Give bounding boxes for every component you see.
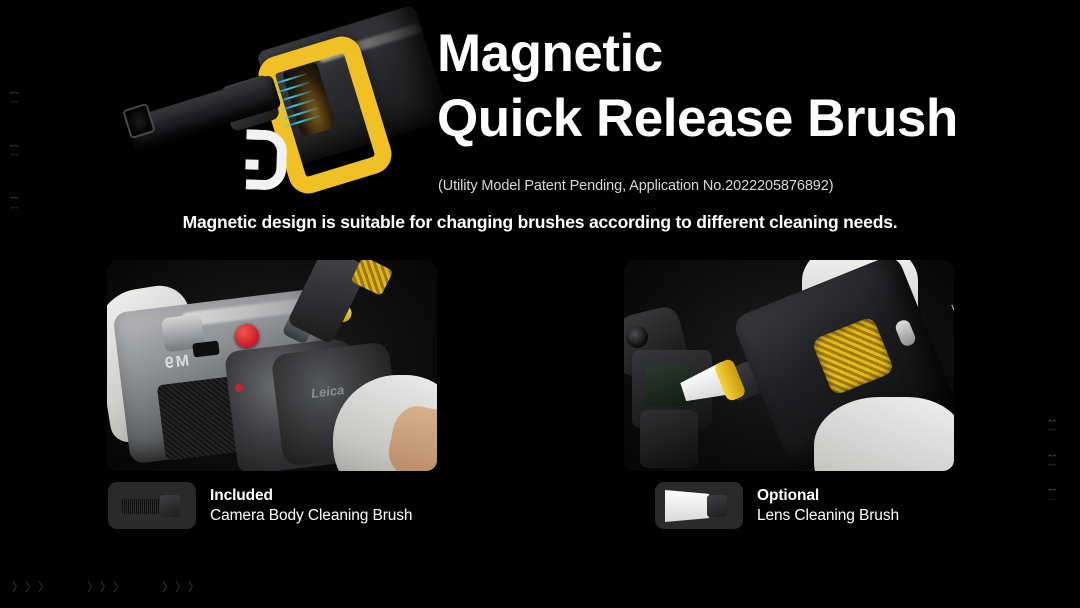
subtitle: Magnetic design is suitable for changing… — [0, 212, 1080, 233]
chevron-group: ˆˆ ˆˆ — [1048, 420, 1057, 439]
chevron-group: ˇˇ ˇˇ — [10, 92, 19, 111]
brush-ferrule — [707, 495, 727, 517]
photo-lens-cleaning: NITECORE — [624, 260, 954, 471]
decoration-chevrons-left: ˇˇ ˇˇ ˇˇ ˇˇ ˇˇ ˇˇ — [10, 92, 19, 216]
page-title: Magnetic Quick Release Brush — [437, 22, 1037, 151]
leica-red-dot — [235, 324, 259, 348]
chevron-group: ˇˇ ˇˇ — [10, 145, 19, 164]
chevron-group: ˆˆ ˆˆ — [1048, 489, 1057, 508]
chevron-down-icon: ˇˇ — [10, 154, 19, 163]
chevron-down-icon: ˇˇ — [10, 101, 19, 110]
headline-line-1: Magnetic — [437, 22, 1037, 87]
chevron-right-icon: 〉〉〉 — [12, 578, 51, 595]
chevron-up-icon: ˆˆ — [1048, 499, 1057, 508]
camera-model-label: M9 — [162, 352, 190, 373]
gimbal-lens — [626, 326, 648, 348]
caption-subtitle: Lens Cleaning Brush — [757, 506, 899, 526]
decoration-chevrons-bottom: 〉〉〉 〉〉〉 〉〉〉 — [12, 578, 201, 595]
photo-camera-body: M9 Leica — [107, 260, 437, 471]
product-banner: ˇˇ ˇˇ ˇˇ ˇˇ ˇˇ ˇˇ ˆˆ ˆˆ ˆˆ ˆˆ ˆˆ ˆˆ 〉〉〉 … — [0, 0, 1080, 608]
caption-subtitle: Camera Body Cleaning Brush — [210, 506, 412, 526]
chevron-right-icon: 〉〉〉 — [162, 578, 201, 595]
brush-ferrule — [160, 495, 180, 517]
caption-optional: Optional Lens Cleaning Brush — [655, 482, 899, 529]
camera-body-brush-thumbnail — [108, 482, 196, 529]
chevron-up-icon: ˆˆ — [1048, 429, 1057, 438]
decoration-chevrons-right: ˆˆ ˆˆ ˆˆ ˆˆ ˆˆ ˆˆ — [1048, 420, 1057, 508]
caption-included: Included Camera Body Cleaning Brush — [108, 482, 412, 529]
camera-mount — [640, 410, 698, 468]
caption-title: Included — [210, 486, 412, 506]
chevron-right-icon: 〉〉〉 — [87, 578, 126, 595]
patent-note: (Utility Model Patent Pending, Applicati… — [438, 178, 833, 194]
magnet-icon — [242, 126, 288, 174]
hero-product-image — [120, 18, 425, 213]
chevron-up-icon: ˆˆ — [1048, 464, 1057, 473]
lens-brush-thumbnail — [655, 482, 743, 529]
headline-line-2: Quick Release Brush — [437, 87, 1037, 152]
lens-index-dot — [235, 384, 243, 392]
chevron-group: ˆˆ ˆˆ — [1048, 455, 1057, 474]
brush-bristles — [665, 490, 709, 522]
caption-title: Optional — [757, 486, 899, 506]
